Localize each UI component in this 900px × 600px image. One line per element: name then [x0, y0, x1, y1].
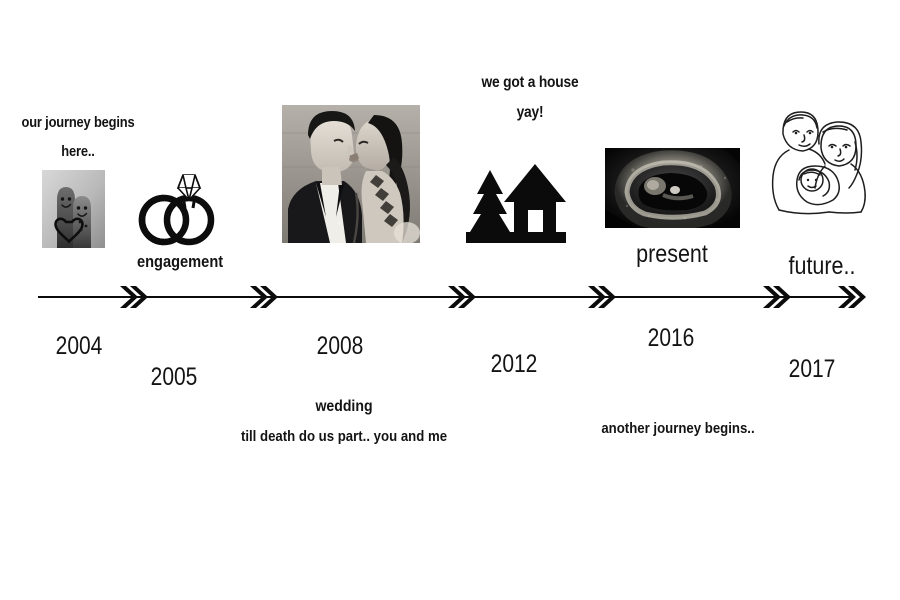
timeline-marker-2016 — [761, 283, 791, 316]
label-present: present — [629, 240, 715, 269]
ultrasound-photo — [605, 148, 740, 228]
caption-our-journey-begins-line2: here.. — [9, 142, 147, 161]
year-label-2005: 2005 — [132, 363, 216, 392]
timeline-marker-2004 — [118, 283, 148, 316]
caption-we-got-a-house-line1: we got a house — [461, 73, 599, 93]
year-label-2012: 2012 — [472, 350, 556, 379]
timeline-canvas: 2004 2005 2008 2012 2016 2017 our journe… — [0, 0, 900, 600]
label-future: future.. — [779, 252, 865, 281]
wedding-kiss-photo — [282, 105, 420, 243]
year-label-2016: 2016 — [629, 324, 713, 353]
label-engagement: engagement — [137, 252, 223, 272]
caption-our-journey-begins-line1: our journey begins — [9, 113, 147, 132]
wedding-rings-icon — [133, 166, 219, 253]
year-label-2017: 2017 — [770, 355, 854, 384]
house-icon — [466, 160, 566, 250]
year-label-2004: 2004 — [37, 332, 121, 361]
family-illustration — [763, 104, 875, 221]
sublabel-wedding-vow: till death do us part.. you and me — [221, 428, 467, 445]
timeline-marker-2008 — [446, 283, 476, 316]
year-label-2008: 2008 — [298, 332, 382, 361]
fingers-couple-photo — [42, 170, 105, 248]
timeline-axis — [38, 296, 850, 298]
timeline-marker-2005 — [248, 283, 278, 316]
sublabel-another-journey: another journey begins.. — [581, 420, 775, 437]
timeline-marker-2012 — [586, 283, 616, 316]
caption-we-got-a-house-line2: yay! — [461, 103, 599, 123]
label-wedding: wedding — [300, 398, 388, 416]
timeline-marker-2017 — [836, 283, 866, 316]
